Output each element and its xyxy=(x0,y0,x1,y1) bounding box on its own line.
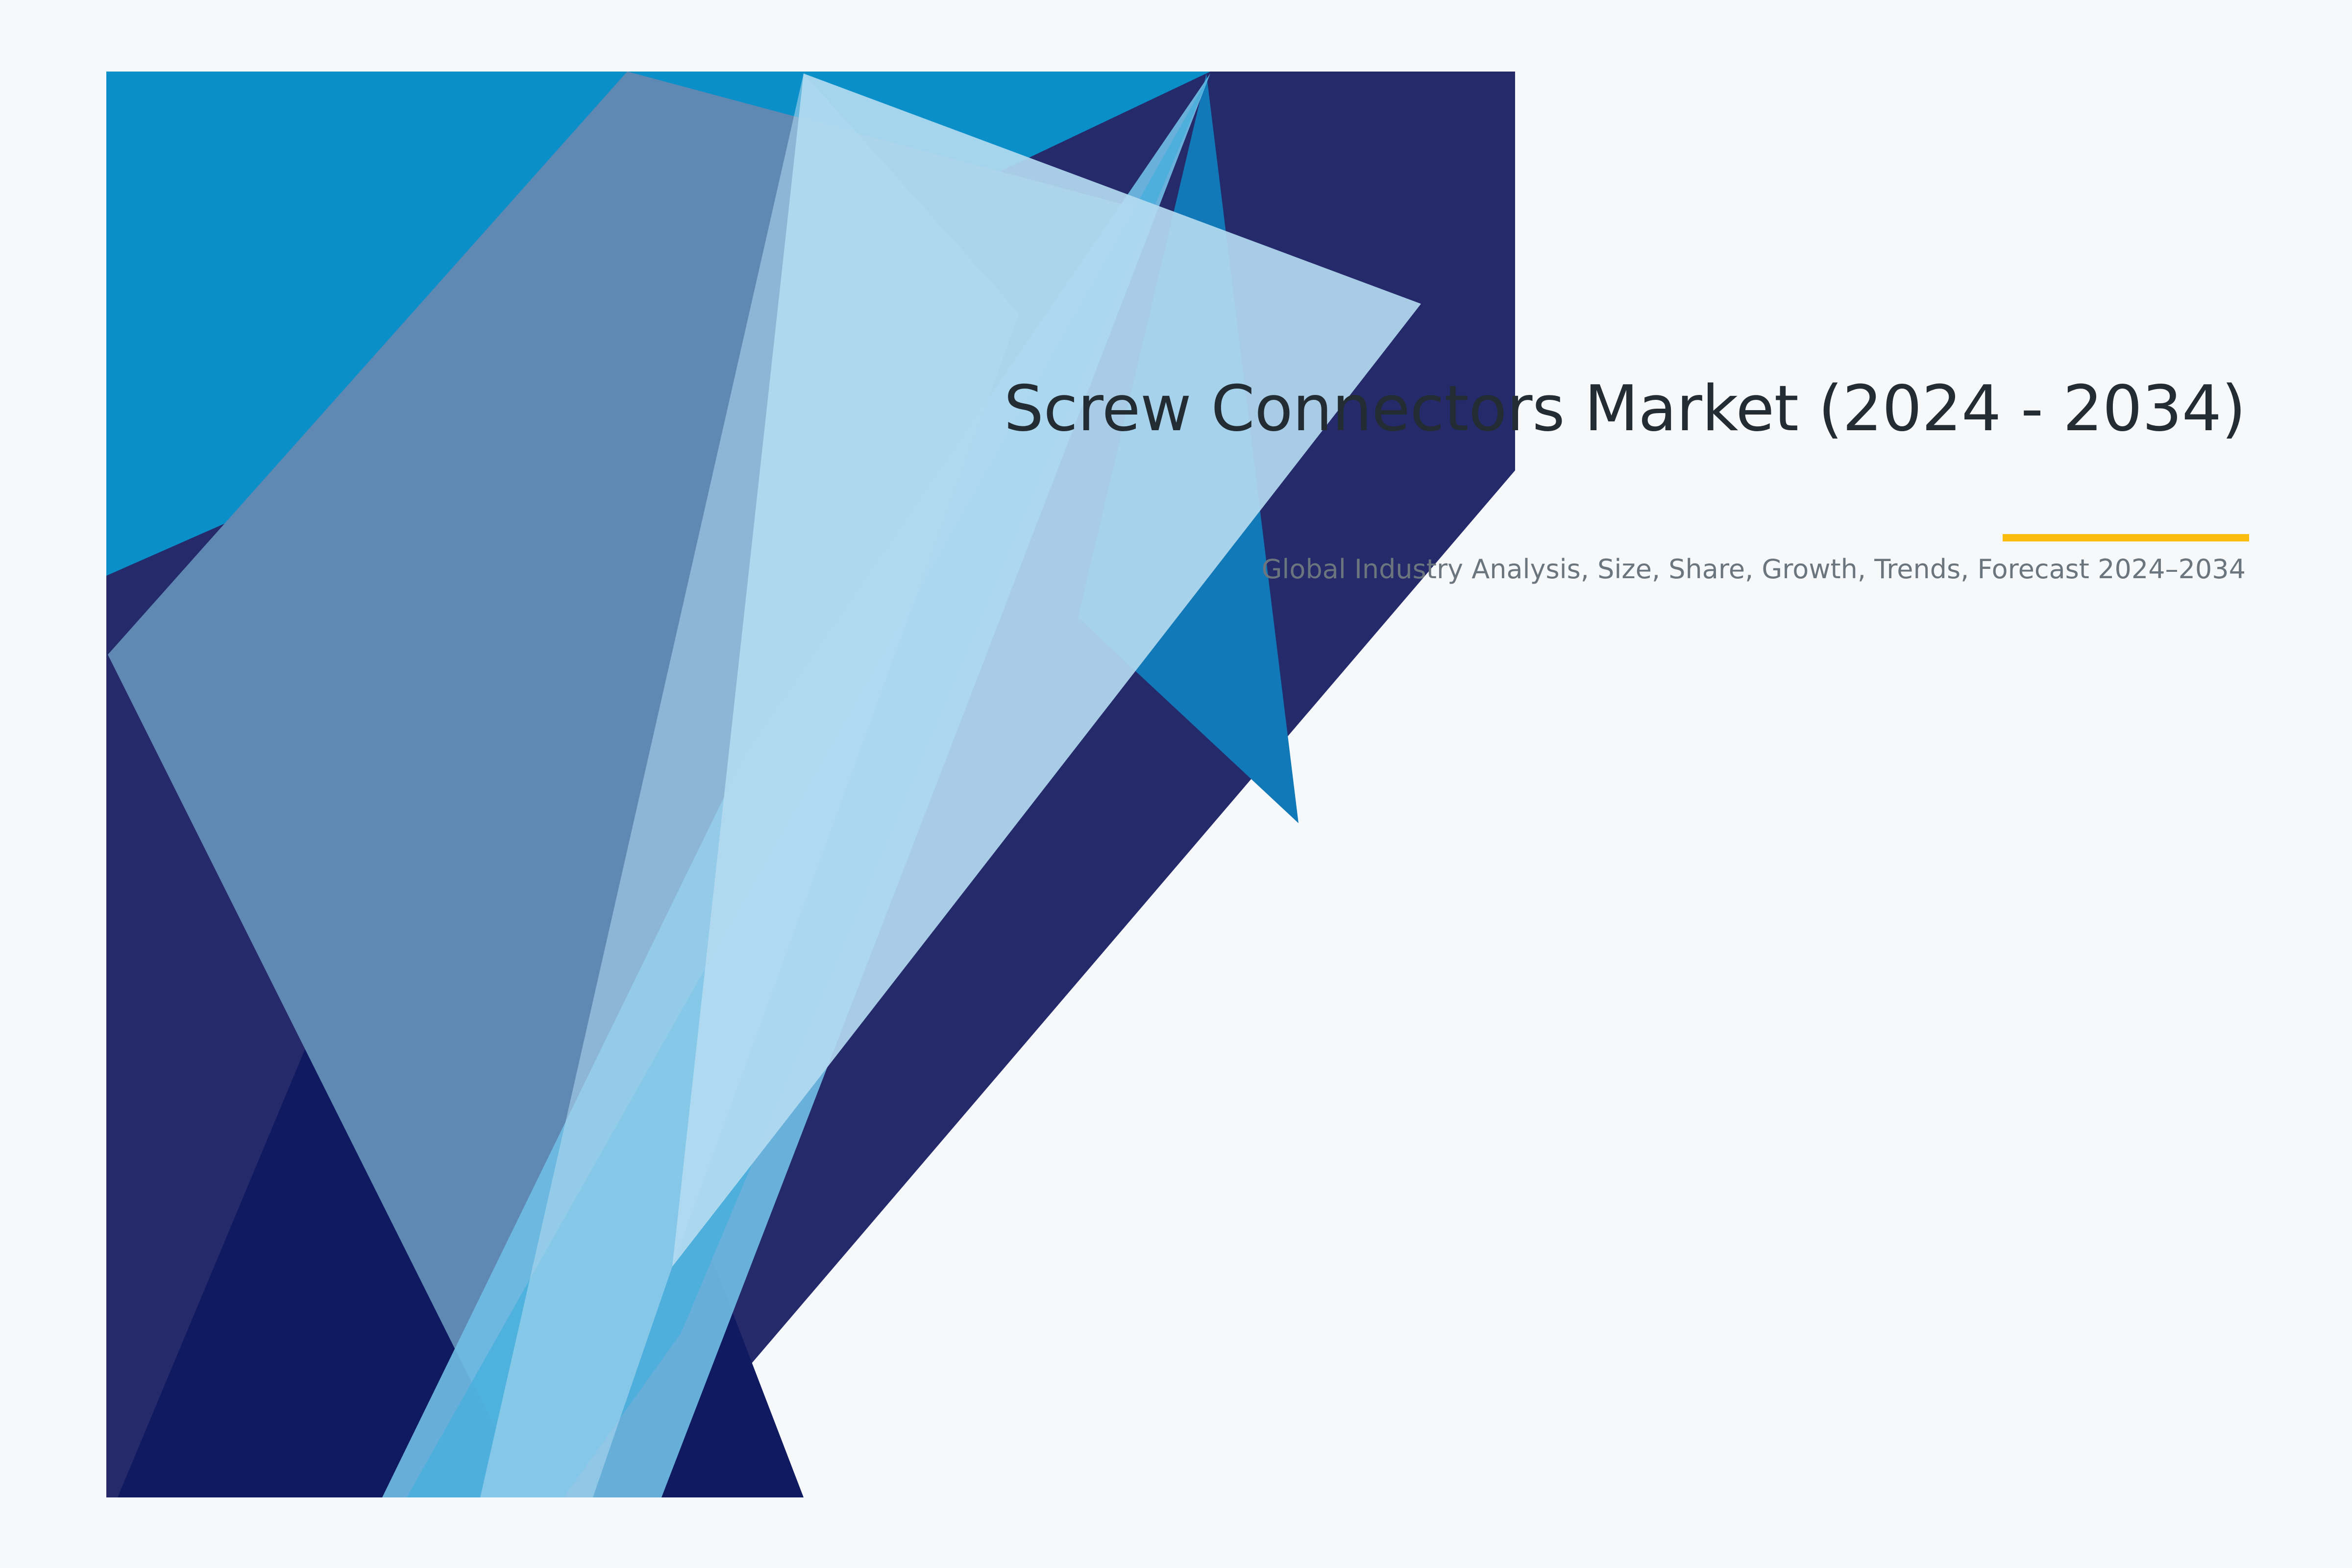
shape-deep-navy-spike xyxy=(118,642,608,1497)
shape-mid-blue-band xyxy=(407,73,1210,1497)
shape-pale-sheet xyxy=(672,73,1421,1267)
shape-deep-navy-wedge xyxy=(475,642,804,1497)
title-accent-underline xyxy=(2003,534,2249,541)
title-wrapper: Screw Connectors Market (2024 - 2034) xyxy=(980,372,2246,446)
shape-navy-left xyxy=(106,72,1515,1497)
shape-sky-band xyxy=(382,73,1210,1497)
cover-text-block: Screw Connectors Market (2024 - 2034) Gl… xyxy=(980,372,2246,587)
shape-slate-quad xyxy=(108,72,1147,1497)
cover-slide: Screw Connectors Market (2024 - 2034) Gl… xyxy=(0,0,2352,1568)
page-subtitle: Global Industry Analysis, Size, Share, G… xyxy=(980,552,2246,587)
shape-pale-inner xyxy=(480,73,1019,1497)
abstract-geometric-artwork xyxy=(0,0,1568,1568)
page-title: Screw Connectors Market (2024 - 2034) xyxy=(980,372,2246,446)
